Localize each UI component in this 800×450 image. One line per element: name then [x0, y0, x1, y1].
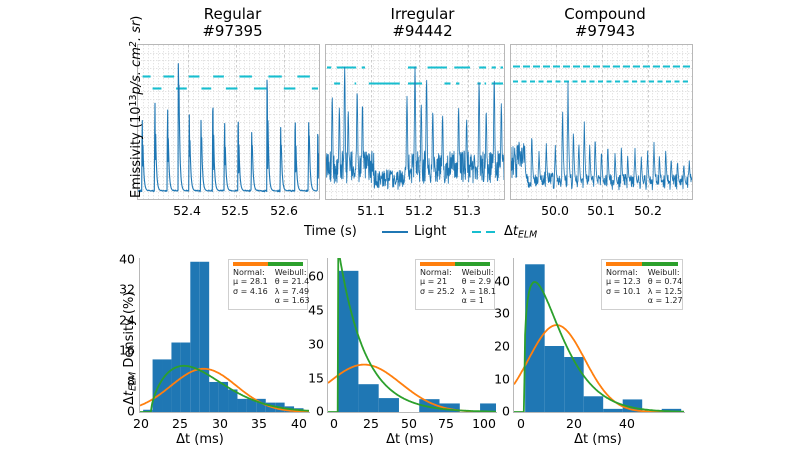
hist-regular-ytick-5: 40 [113, 252, 135, 267]
hist-compound-ytick-2: 20 [488, 339, 510, 354]
stats-swatches-irregular [420, 262, 490, 266]
legend-dtelm-swatch [472, 230, 498, 234]
legend-dtelm-label: ΔtELM [504, 224, 537, 240]
stats-weibull-header: Weibull: [275, 268, 310, 278]
stats-weibull-theta: θ = 0.74 [648, 277, 683, 287]
stats-normal-mu: μ = 12.3 [606, 277, 641, 287]
ts-irregular-xtick-0: 51.1 [357, 203, 385, 218]
hist-irregular-xtick-2: 50 [401, 416, 417, 431]
stats-weibull-alpha: α = 1 [462, 296, 496, 306]
stats-weibull-header: Weibull: [648, 268, 683, 278]
hist-compound-xtick-2: 40 [619, 416, 635, 431]
panel-title-regular-shot: #97395 [130, 23, 335, 40]
stats-swatches-compound [606, 262, 678, 266]
hist-regular-xtick-0: 20 [133, 416, 149, 431]
hist-regular-ytick-1: 8 [113, 374, 135, 389]
stats-swatches-regular [233, 262, 303, 266]
timeseries-plot-regular [137, 44, 320, 200]
stats-normal-mu: μ = 28.1 [233, 277, 268, 287]
hist-regular-xtick-3: 35 [251, 416, 267, 431]
hist-compound-xlabel: Δt (ms) [574, 432, 622, 447]
legend-light-swatch [382, 231, 408, 233]
stats-box-regular: Normal: μ = 28.1 σ = 4.16 Weibull: θ = 2… [228, 259, 308, 310]
stats-normal-header: Normal: [420, 268, 455, 278]
panel-title-compound: Compound #97943 [505, 6, 705, 40]
stats-box-irregular: Normal: μ = 21 σ = 25.2 Weibull: θ = 2.9… [415, 259, 495, 310]
hist-irregular-ytick-1: 15 [302, 371, 324, 386]
ts-regular-xtick-2: 52.6 [270, 203, 298, 218]
hist-compound-xtick-0: 0 [517, 416, 525, 431]
stats-normal-sigma: σ = 10.1 [606, 287, 641, 297]
hist-irregular-xtick-3: 75 [438, 416, 454, 431]
hist-regular-xtick-2: 30 [212, 416, 228, 431]
stats-weibull-alpha: α = 1.63 [275, 296, 310, 306]
legend-light: Light [382, 224, 446, 239]
ts-compound-xtick-1: 50.1 [587, 203, 615, 218]
stats-normal-sigma: σ = 4.16 [233, 287, 268, 297]
stats-box-compound: Normal: μ = 12.3 σ = 10.1 Weibull: θ = 0… [601, 259, 683, 310]
normal-fit-swatch [233, 262, 268, 266]
ts-irregular-xtick-2: 51.3 [453, 203, 481, 218]
hist-irregular-xtick-0: 0 [330, 416, 338, 431]
hist-regular-xlabel: Δt (ms) [176, 432, 224, 447]
panel-title-compound-type: Compound [505, 6, 705, 23]
weibull-fit-swatch [642, 262, 678, 266]
hist-regular-xtick-1: 25 [172, 416, 188, 431]
panel-title-irregular: Irregular #94442 [325, 6, 520, 40]
timeseries-plot-compound [510, 44, 693, 200]
stats-weibull-theta: θ = 21.4 [275, 277, 310, 287]
stats-normal-mu: μ = 21 [420, 277, 455, 287]
hist-irregular-ytick-0: 0 [302, 404, 324, 419]
figure-root: Regular #97395 Irregular #94442 Compound… [0, 0, 800, 450]
weibull-fit-swatch [455, 262, 490, 266]
stats-normal-col-compound: Normal: μ = 12.3 σ = 10.1 [606, 268, 641, 306]
hist-compound-xtick-1: 20 [566, 416, 582, 431]
stats-weibull-col-compound: Weibull: θ = 0.74 λ = 12.5 α = 1.27 [648, 268, 683, 306]
hist-irregular-xtick-1: 25 [363, 416, 379, 431]
hist-compound-ytick-0: 0 [488, 404, 510, 419]
legend-dtelm: ΔtELM [472, 224, 537, 240]
panel-title-regular: Regular #97395 [130, 6, 335, 40]
emissivity-axis-label: Emissivity (1013p/s. cm2. sr) [128, 16, 144, 198]
stats-weibull-lambda: λ = 7.49 [275, 287, 310, 297]
hist-regular-ytick-3: 24 [113, 313, 135, 328]
stats-weibull-lambda: λ = 18.1 [462, 287, 496, 297]
ts-regular-xtick-1: 52.5 [221, 203, 249, 218]
hist-compound-ytick-1: 10 [488, 372, 510, 387]
hist-regular-ytick-4: 32 [113, 282, 135, 297]
legend-light-label: Light [414, 224, 446, 239]
ts-irregular-xtick-1: 51.2 [405, 203, 433, 218]
stats-weibull-col-regular: Weibull: θ = 21.4 λ = 7.49 α = 1.63 [275, 268, 310, 306]
stats-normal-sigma: σ = 25.2 [420, 287, 455, 297]
normal-fit-swatch [420, 262, 455, 266]
ts-compound-xtick-2: 50.2 [634, 203, 662, 218]
hist-regular-ytick-2: 16 [113, 343, 135, 358]
panel-title-irregular-type: Irregular [325, 6, 520, 23]
panel-title-compound-shot: #97943 [505, 23, 705, 40]
stats-weibull-lambda: λ = 12.5 [648, 287, 683, 297]
ts-regular-xtick-0: 52.4 [173, 203, 201, 218]
weibull-fit-swatch [268, 262, 303, 266]
stats-weibull-col-irregular: Weibull: θ = 2.9 λ = 18.1 α = 1 [462, 268, 496, 306]
ts-compound-xtick-0: 50.0 [541, 203, 569, 218]
stats-normal-col-regular: Normal: μ = 28.1 σ = 4.16 [233, 268, 268, 306]
panel-title-irregular-shot: #94442 [325, 23, 520, 40]
stats-weibull-alpha: α = 1.27 [648, 296, 683, 306]
stats-weibull-theta: θ = 2.9 [462, 277, 496, 287]
stats-weibull-header: Weibull: [462, 268, 496, 278]
stats-normal-header: Normal: [233, 268, 268, 278]
time-axis-label: Time (s) [304, 224, 357, 239]
hist-irregular-ytick-2: 30 [302, 337, 324, 352]
normal-fit-swatch [606, 262, 642, 266]
hist-regular-ytick-0: 0 [113, 404, 135, 419]
stats-normal-header: Normal: [606, 268, 641, 278]
stats-normal-col-irregular: Normal: μ = 21 σ = 25.2 [420, 268, 455, 306]
panel-title-regular-type: Regular [130, 6, 335, 23]
timeseries-plot-irregular [325, 44, 505, 200]
hist-irregular-xlabel: Δt (ms) [386, 432, 434, 447]
